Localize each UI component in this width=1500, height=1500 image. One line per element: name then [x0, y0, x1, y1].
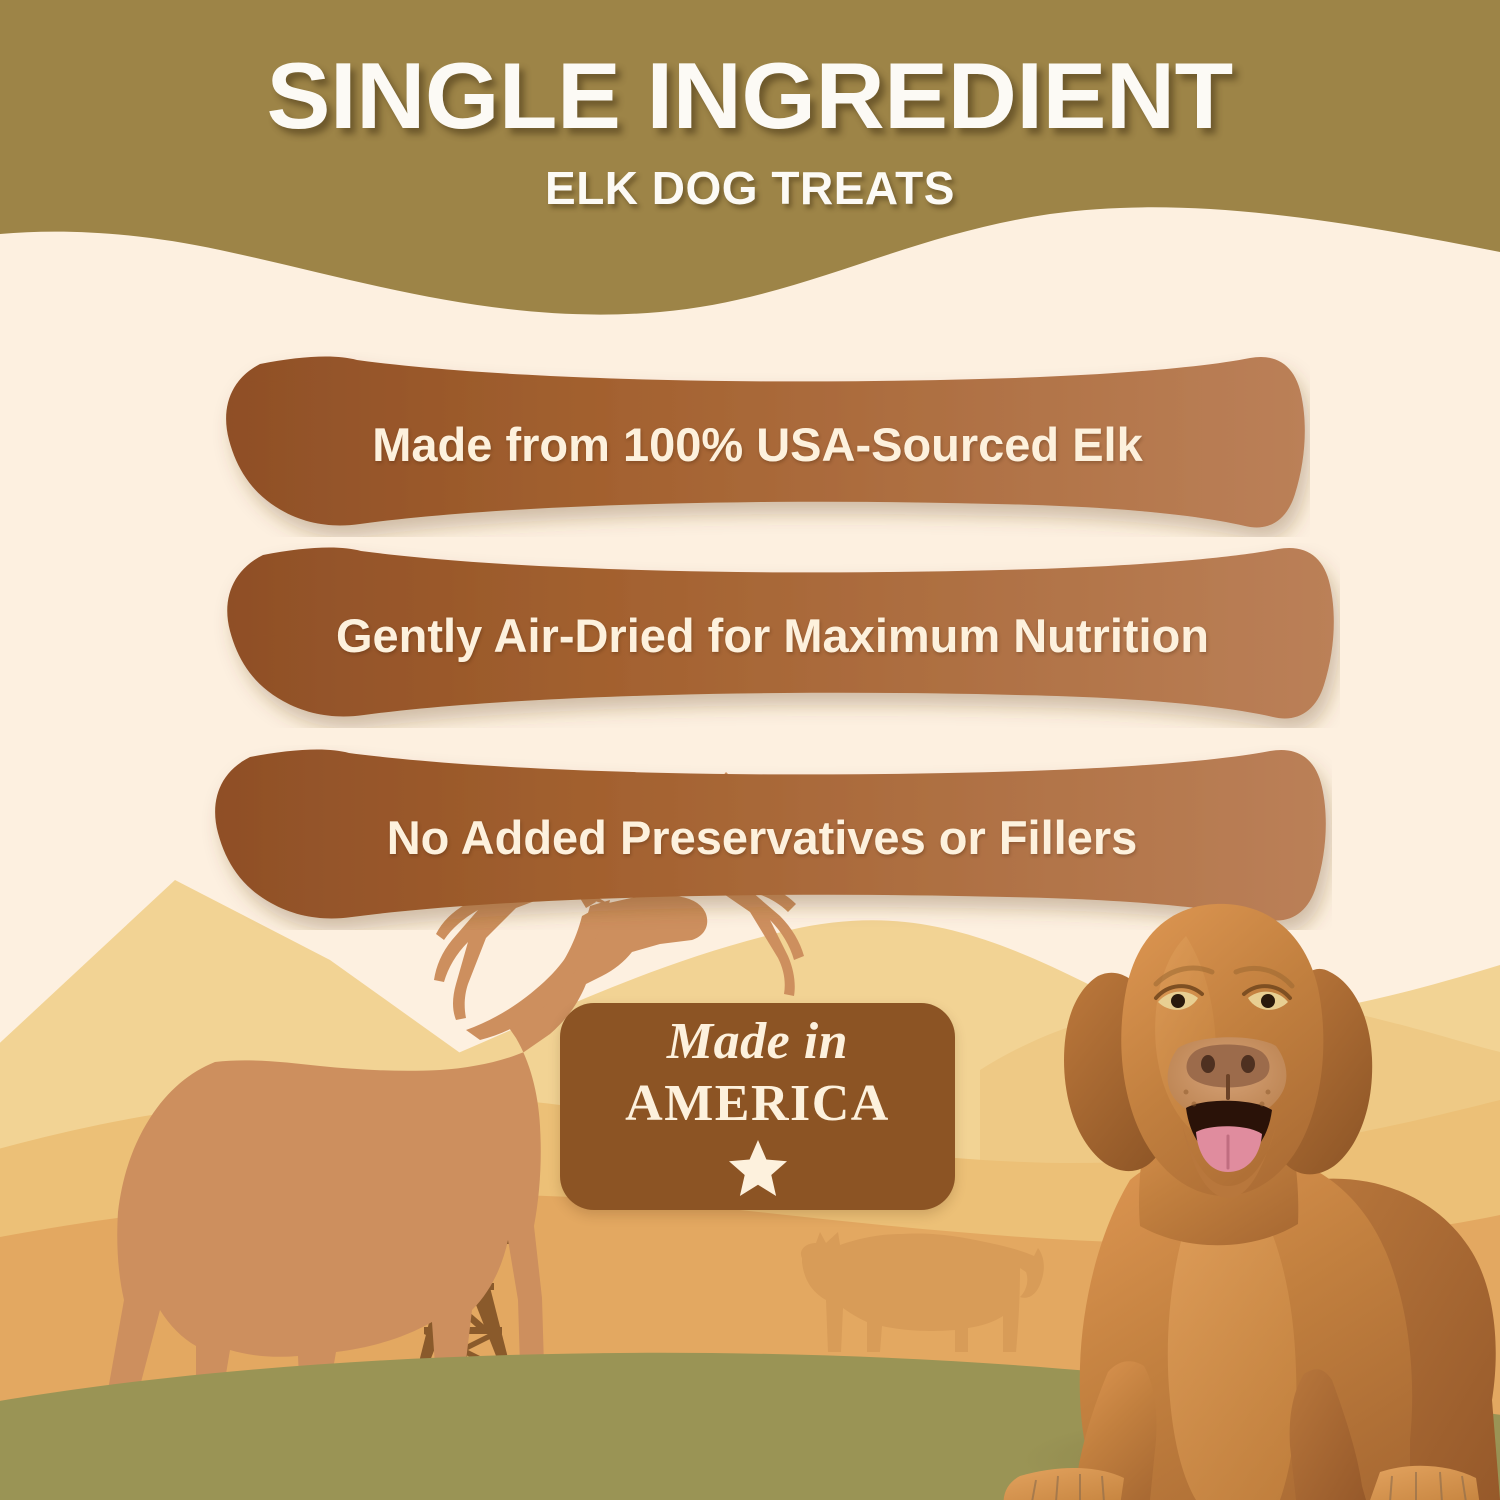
feature-banner-1[interactable]: Made from 100% USA-Sourced Elk: [205, 352, 1310, 537]
feature-banner-label: Made from 100% USA-Sourced Elk: [372, 417, 1143, 472]
page-title: SINGLE INGREDIENT: [267, 48, 1233, 145]
product-infographic: SINGLE INGREDIENT ELK DOG TREATS Made fr…: [0, 0, 1500, 1500]
feature-banner-label: No Added Preservatives or Fillers: [387, 810, 1138, 865]
made-in-america-badge[interactable]: Made in AMERICA: [560, 1003, 955, 1210]
star-icon: [727, 1138, 789, 1198]
badge-line-america: AMERICA: [625, 1078, 890, 1130]
page-subtitle: ELK DOG TREATS: [545, 161, 955, 215]
feature-banner-label: Gently Air-Dried for Maximum Nutrition: [336, 608, 1209, 663]
badge-line-made-in: Made in: [667, 1016, 848, 1068]
header-text-block: SINGLE INGREDIENT ELK DOG TREATS: [0, 0, 1500, 250]
feature-banner-2[interactable]: Gently Air-Dried for Maximum Nutrition: [205, 543, 1340, 728]
vizsla-dog-photo: [980, 880, 1500, 1500]
